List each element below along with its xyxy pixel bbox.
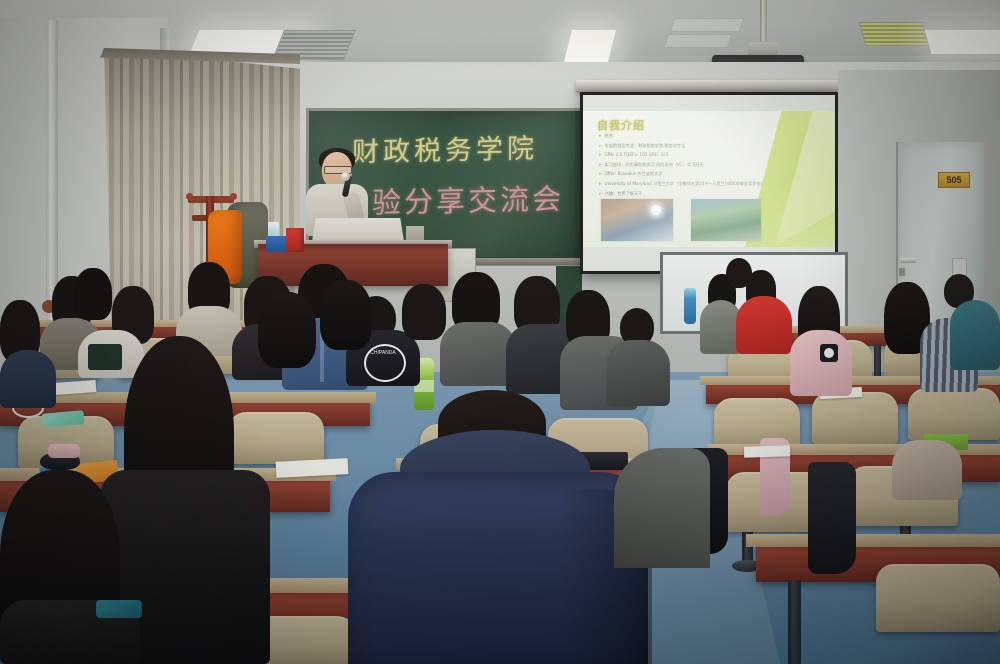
teal-scarf — [96, 600, 142, 618]
red-box — [286, 228, 304, 252]
seat-back[interactable] — [876, 564, 1000, 632]
student-hair — [74, 268, 112, 320]
student-pink-jacket — [790, 330, 852, 396]
seat-back[interactable] — [812, 392, 898, 444]
gray-hoodie-shoulder — [614, 448, 710, 568]
student-hair — [320, 280, 372, 350]
ceiling-panel-seam-2 — [664, 34, 733, 48]
desk-leg — [788, 580, 801, 664]
projector-glow — [583, 95, 835, 271]
shirt-graphic — [88, 344, 122, 370]
student-red-jacket — [736, 296, 792, 354]
door-lock-icon — [899, 268, 905, 276]
blue-box — [266, 236, 286, 252]
coat-rack-knob-right — [230, 193, 237, 200]
paper-on-desk — [744, 445, 790, 458]
door-handle[interactable] — [900, 258, 916, 263]
ceiling-panel-seam-1 — [670, 18, 745, 32]
blackboard-title-line: 财政税务学院 — [352, 126, 580, 170]
student-gray-hoodie — [606, 340, 670, 406]
student-teal-vest — [950, 300, 1000, 370]
blackboard-subtitle-line: 经验分享交流会 — [340, 176, 578, 223]
room-number-label: 505 — [946, 175, 961, 185]
student-hair — [258, 292, 316, 368]
student-hair — [402, 284, 446, 340]
ceiling-light-3 — [925, 30, 1000, 54]
ceiling-light-2 — [564, 30, 616, 62]
coat-rack-knob-left — [186, 193, 193, 200]
projector-pole — [760, 0, 767, 48]
desk-surface — [746, 534, 1000, 547]
student-back — [892, 440, 962, 500]
blue-bottle-on-desk — [684, 288, 696, 324]
classroom-photo: 财政税务学院 经验分享交流会 自我介绍 ▸ 姓名： ▸ 毕业院校及专业：财政税务… — [0, 0, 1000, 664]
microphone-head-icon — [341, 172, 350, 181]
student-head — [726, 258, 752, 288]
seat-back[interactable] — [908, 388, 1000, 440]
projection-screen: 自我介绍 ▸ 姓名： ▸ 毕业院校及专业：财政税务学院 税务学专业 ▸ GPA:… — [583, 95, 835, 271]
ceiling-vent-2 — [859, 22, 930, 46]
student-navy-top — [0, 350, 56, 408]
room-number-plate: 505 — [938, 172, 970, 188]
pink-pouch — [48, 444, 80, 458]
student-gray-top — [440, 322, 516, 386]
hanging-dark-coat — [808, 462, 856, 574]
jacket-logo-inner-icon — [824, 348, 834, 358]
chipanda-logo-text: CHIPANDA — [366, 350, 400, 356]
seat-back[interactable] — [228, 412, 324, 464]
